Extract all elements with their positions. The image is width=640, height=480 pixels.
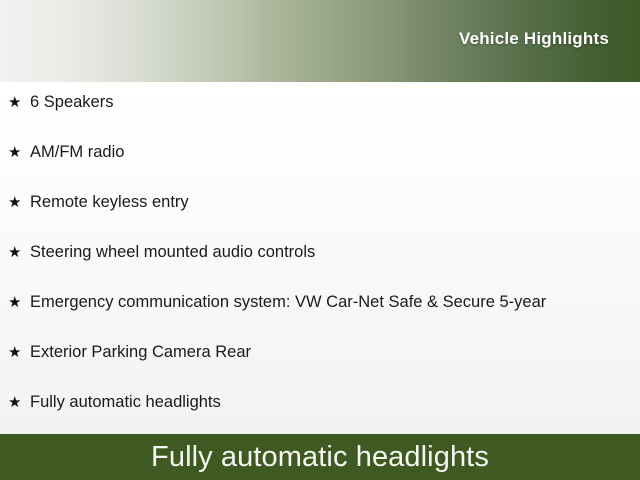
list-item: ★ Exterior Parking Camera Rear [0,344,640,394]
vehicle-highlights-list: ★ 6 Speakers ★ AM/FM radio ★ Remote keyl… [0,82,640,434]
vehicle-highlights-slide: Vehicle Highlights ★ 6 Speakers ★ AM/FM … [0,0,640,480]
list-item-label: Fully automatic headlights [30,394,640,411]
list-item: ★ Steering wheel mounted audio controls [0,244,640,294]
list-item: ★ AM/FM radio [0,144,640,194]
list-item-label: Remote keyless entry [30,194,640,211]
star-icon: ★ [8,245,30,260]
list-item-label: Emergency communication system: VW Car-N… [30,294,640,311]
footer-caption-text: Fully automatic headlights [151,443,489,472]
list-item: ★ Fully automatic headlights [0,394,640,434]
header-bar: Vehicle Highlights [0,0,640,82]
page-title: Vehicle Highlights [459,29,640,53]
highlights-content-area: ★ 6 Speakers ★ AM/FM radio ★ Remote keyl… [0,82,640,434]
star-icon: ★ [8,145,30,160]
list-item-label: Steering wheel mounted audio controls [30,244,640,261]
list-item-label: AM/FM radio [30,144,640,161]
list-item: ★ 6 Speakers [0,94,640,144]
list-item: ★ Emergency communication system: VW Car… [0,294,640,344]
star-icon: ★ [8,395,30,410]
star-icon: ★ [8,95,30,110]
list-item-label: 6 Speakers [30,94,640,111]
list-item-label: Exterior Parking Camera Rear [30,344,640,361]
star-icon: ★ [8,345,30,360]
footer-caption-bar: Fully automatic headlights [0,434,640,480]
star-icon: ★ [8,195,30,210]
list-item: ★ Remote keyless entry [0,194,640,244]
star-icon: ★ [8,295,30,310]
